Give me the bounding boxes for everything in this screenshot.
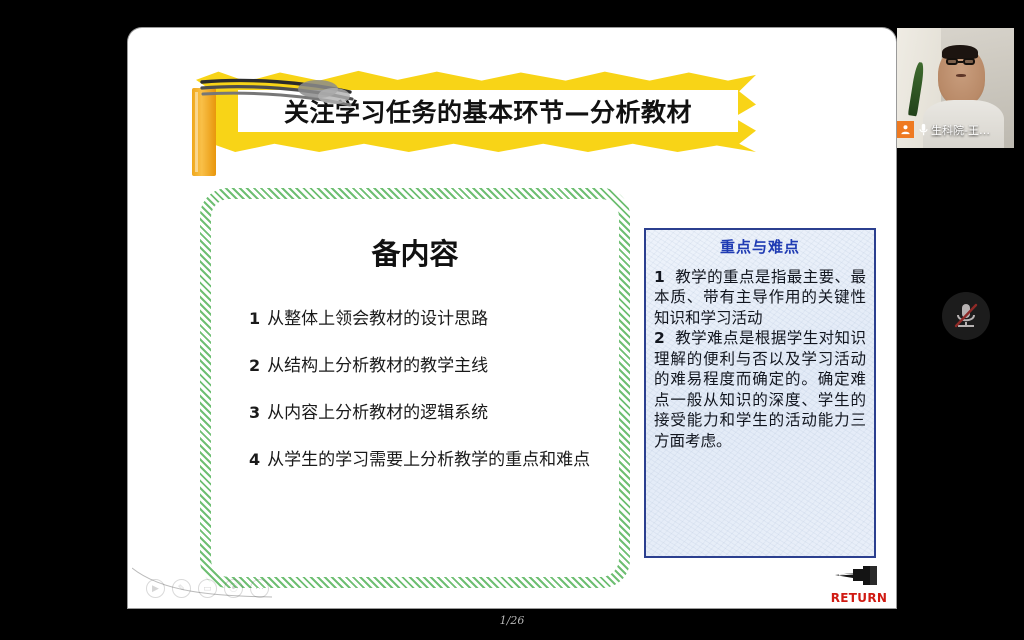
return-button[interactable]: RETURN — [828, 564, 890, 604]
microphone-muted-icon — [953, 301, 979, 331]
glasses-icon — [946, 58, 975, 65]
participant-head — [938, 47, 986, 105]
list-item-number: 3 — [249, 403, 260, 422]
pointing-hand-icon — [833, 564, 885, 588]
paragraph-text: 教学难点是根据学生对知识理解的便利与否以及学习活动的难易程度而确定的。确定难点一… — [654, 329, 866, 449]
microphone-icon — [918, 123, 929, 137]
list-item-label: 从学生的学习需要上分析教学的重点和难点 — [267, 445, 590, 470]
paragraph-number: 1 — [654, 268, 665, 286]
participant-hair — [942, 45, 977, 59]
return-label: RETURN — [828, 591, 890, 605]
screen-icon[interactable]: ▭ — [198, 579, 217, 598]
list-item: 2 从结构上分析教材的教学主线 — [249, 351, 607, 376]
list-item-number: 2 — [249, 356, 260, 375]
brush-stroke-icon — [200, 76, 360, 110]
host-person-icon — [897, 121, 914, 138]
key-points-paragraph: 2教学难点是根据学生对知识理解的便利与否以及学习活动的难易程度而确定的。确定难点… — [654, 328, 866, 451]
presentation-slide[interactable]: 关注学习任务的基本环节—分析教材 备内容 1 从整体上领会教材的设计思路 2 从… — [128, 28, 896, 608]
analysis-item-list: 1 从整体上领会教材的设计思路 2 从结构上分析教材的教学主线 3 从内容上分析… — [249, 304, 607, 492]
participant-name-bar: 生科院-王… — [897, 121, 990, 138]
more-icon[interactable]: ⋯ — [250, 579, 269, 598]
list-item: 3 从内容上分析教材的逻辑系统 — [249, 398, 607, 423]
list-item-label: 从结构上分析教材的教学主线 — [267, 351, 488, 376]
slide-title-banner: 关注学习任务的基本环节—分析教材 — [156, 58, 766, 163]
list-item-number: 1 — [249, 309, 260, 328]
paragraph-number: 2 — [654, 329, 665, 347]
participant-video-tile[interactable]: 生科院-王… — [897, 28, 1014, 148]
play-icon[interactable]: ▶ — [146, 579, 165, 598]
list-item: 1 从整体上领会教材的设计思路 — [249, 304, 607, 329]
content-frame-inner: 备内容 1 从整体上领会教材的设计思路 2 从结构上分析教材的教学主线 3 从内… — [211, 199, 619, 577]
key-points-title: 重点与难点 — [654, 236, 866, 257]
page-indicator: 1/26 — [0, 614, 1024, 627]
mute-toggle-button[interactable] — [942, 292, 990, 340]
list-item-label: 从内容上分析教材的逻辑系统 — [267, 398, 488, 423]
list-item: 4 从学生的学习需要上分析教学的重点和难点 — [249, 445, 607, 470]
menu-icon[interactable]: ⦿ — [224, 579, 243, 598]
key-points-box: 重点与难点 1教学的重点是指最主要、最本质、带有主导作用的关键性知识和学习活动 … — [644, 228, 876, 558]
content-heading: 备内容 — [211, 231, 619, 273]
paragraph-text: 教学的重点是指最主要、最本质、带有主导作用的关键性知识和学习活动 — [654, 268, 866, 327]
list-item-label: 从整体上领会教材的设计思路 — [267, 304, 488, 329]
participant-name: 生科院-王… — [931, 122, 990, 138]
content-green-frame: 备内容 1 从整体上领会教材的设计思路 2 从结构上分析教材的教学主线 3 从内… — [200, 188, 630, 588]
presentation-toolbar[interactable]: ▶ ✎ ▭ ⦿ ⋯ — [146, 579, 269, 598]
participant-mouth — [956, 74, 967, 77]
pen-icon[interactable]: ✎ — [172, 579, 191, 598]
key-points-paragraph: 1教学的重点是指最主要、最本质、带有主导作用的关键性知识和学习活动 — [654, 267, 866, 328]
list-item-number: 4 — [249, 450, 260, 469]
